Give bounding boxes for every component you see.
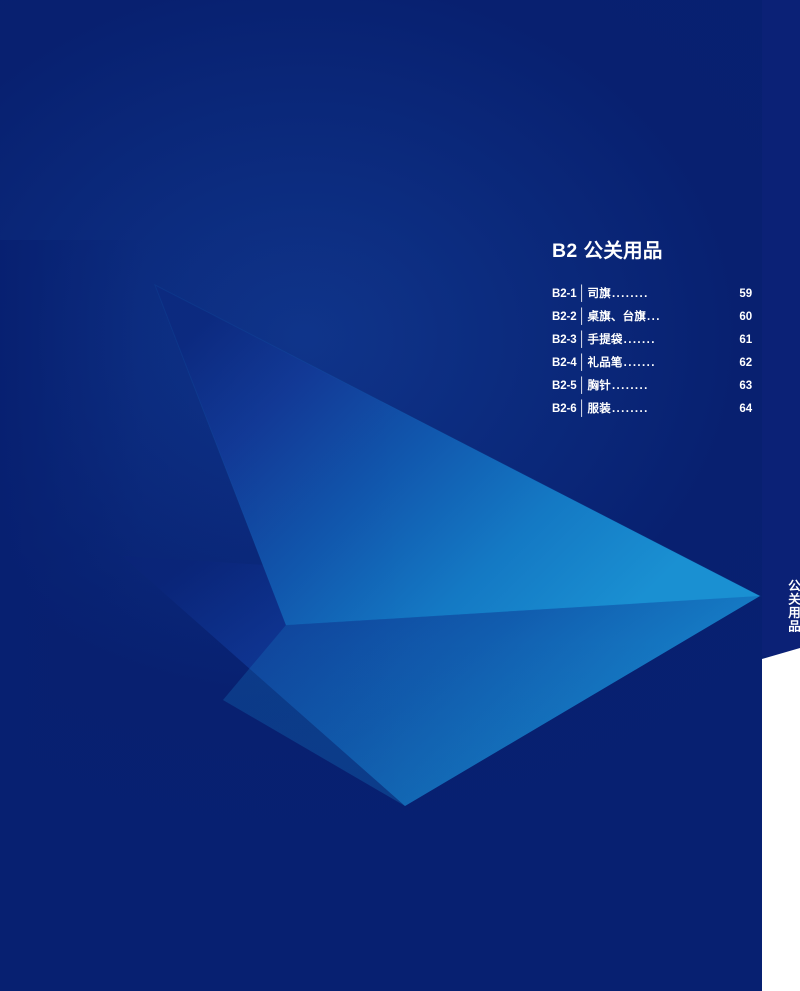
toc-entry-name: 司旗 xyxy=(588,289,611,301)
toc-entry-code: B2-1 xyxy=(552,289,577,301)
toc-entry-separator-icon: │ xyxy=(577,311,588,325)
toc-entry-page-number: 61 xyxy=(739,335,752,347)
toc-entry-leader-dots: ........ xyxy=(612,289,738,301)
page-corner-white xyxy=(762,648,800,991)
toc-entry-name: 胸针 xyxy=(588,381,611,393)
bottom-fade xyxy=(0,640,800,991)
side-index-tab[interactable] xyxy=(762,0,800,656)
toc-entry-code: B2-6 xyxy=(552,404,577,416)
toc-entry-code: B2-2 xyxy=(552,312,577,324)
toc-entry-separator-icon: │ xyxy=(577,288,588,302)
toc-entry-name: 手提袋 xyxy=(588,335,623,347)
toc-entry-page-number: 59 xyxy=(739,289,752,301)
side-index-tab-label: 公关用品 xyxy=(762,566,800,646)
toc-entry-code: B2-5 xyxy=(552,381,577,393)
toc-entry-name: 礼品笔 xyxy=(588,358,623,370)
toc-entry-leader-dots: ........ xyxy=(612,381,738,393)
toc-entry-separator-icon: │ xyxy=(577,403,588,417)
page-title: B2公关用品 xyxy=(552,240,752,263)
toc-entry-b2-6[interactable]: B2-6 │ 服装 ........ 64 xyxy=(552,404,752,427)
toc-entry-separator-icon: │ xyxy=(577,357,588,371)
toc-entry-leader-dots: ....... xyxy=(624,335,739,347)
toc-entry-leader-dots: ....... xyxy=(624,358,739,370)
toc-entry-page-number: 64 xyxy=(739,404,752,416)
toc-entry-separator-icon: │ xyxy=(577,334,588,348)
chevron-artwork xyxy=(0,0,800,991)
page-title-code: B2 xyxy=(552,240,578,262)
toc-entry-code: B2-4 xyxy=(552,358,577,370)
toc-list: B2-1 │ 司旗 ........ 59 B2-2 │ 桌旗、台旗 ... 6… xyxy=(552,289,752,427)
toc-entry-name: 服装 xyxy=(588,404,611,416)
table-of-contents: B2公关用品 B2-1 │ 司旗 ........ 59 B2-2 │ 桌旗、台… xyxy=(552,240,752,427)
toc-entry-separator-icon: │ xyxy=(577,380,588,394)
section-divider-page: B2公关用品 B2-1 │ 司旗 ........ 59 B2-2 │ 桌旗、台… xyxy=(0,0,800,991)
toc-entry-code: B2-3 xyxy=(552,335,577,347)
toc-entry-page-number: 60 xyxy=(739,312,752,324)
toc-entry-page-number: 63 xyxy=(739,381,752,393)
toc-entry-page-number: 62 xyxy=(739,358,752,370)
toc-entry-name: 桌旗、台旗 xyxy=(588,312,647,324)
toc-entry-leader-dots: ........ xyxy=(612,404,738,416)
page-title-text: 公关用品 xyxy=(584,240,663,262)
toc-entry-leader-dots: ... xyxy=(647,312,738,324)
